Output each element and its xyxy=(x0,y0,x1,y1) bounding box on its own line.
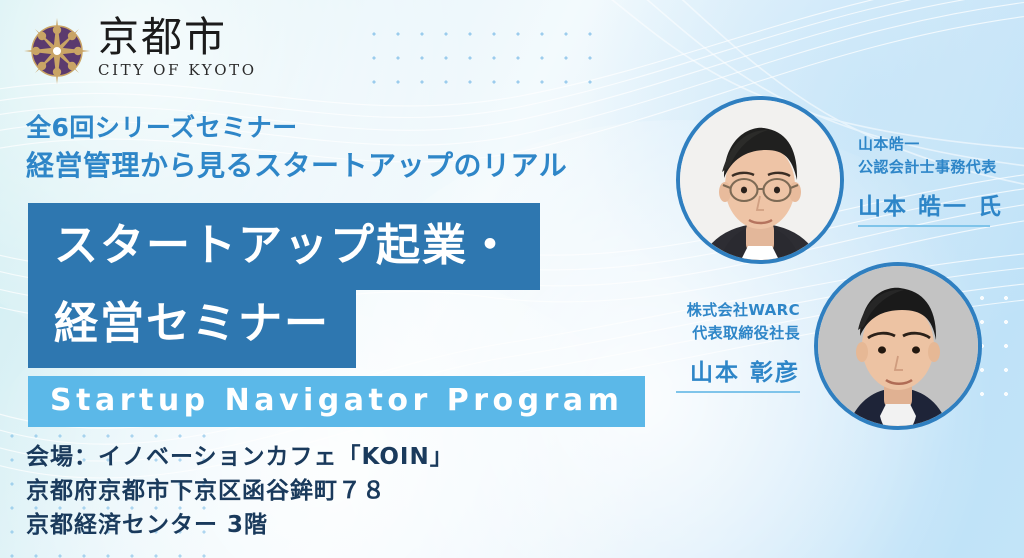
logo-name-en: CITY OF KYOTO xyxy=(98,61,257,79)
kyoto-city-logo: 京都市 CITY OF KYOTO xyxy=(24,16,257,84)
series-heading: 全6回シリーズセミナー 経営管理から見るスタートアップのリアル xyxy=(26,110,567,185)
page-title: スタートアップ起業・ 経営セミナー xyxy=(28,203,540,368)
page-title-line2: 経営セミナー xyxy=(28,290,356,368)
kyoto-city-emblem-icon xyxy=(24,18,90,84)
speaker-1-underline xyxy=(858,225,990,227)
series-heading-line2: 経営管理から見るスタートアップのリアル xyxy=(26,146,567,186)
speaker-2-org-line1: 株式会社WARC xyxy=(676,299,800,322)
speaker-1-text: 山本皓一 公認会計士事務代表 山本 皓一 氏 xyxy=(858,133,1003,227)
logo-name-jp: 京都市 xyxy=(98,16,257,59)
speaker-2: 株式会社WARC 代表取締役社長 山本 彰彦 xyxy=(676,262,982,430)
speaker-2-underline xyxy=(676,391,800,393)
speaker-1-org-line1: 山本皓一 xyxy=(858,133,1003,156)
speaker-2-name: 山本 彰彦 xyxy=(676,353,800,387)
speaker-2-org-line2: 代表取締役社長 xyxy=(676,322,800,345)
series-heading-line1: 全6回シリーズセミナー xyxy=(26,110,567,146)
speaker-1-org-line2: 公認会計士事務代表 xyxy=(858,156,1003,179)
venue-line3: 京都経済センター 3階 xyxy=(26,508,454,542)
venue-line2: 京都府京都市下京区函谷鉾町７８ xyxy=(26,474,454,508)
page-title-line1: スタートアップ起業・ xyxy=(28,203,540,290)
venue-info: 会場：イノベーションカフェ「KOIN」 京都府京都市下京区函谷鉾町７８ 京都経済… xyxy=(26,440,454,542)
speaker-2-avatar xyxy=(814,262,982,430)
dot-grid-top xyxy=(362,22,608,104)
speaker-1-name: 山本 皓一 氏 xyxy=(858,187,1003,221)
program-name-band: Startup Navigator Program xyxy=(28,376,645,427)
speaker-1: 山本皓一 公認会計士事務代表 山本 皓一 氏 xyxy=(676,96,1003,264)
speaker-1-avatar xyxy=(676,96,844,264)
venue-line1: 会場：イノベーションカフェ「KOIN」 xyxy=(26,440,454,474)
seminar-poster: 京都市 CITY OF KYOTO 全6回シリーズセミナー 経営管理から見るスタ… xyxy=(0,0,1024,558)
speaker-2-text: 株式会社WARC 代表取締役社長 山本 彰彦 xyxy=(676,299,800,393)
